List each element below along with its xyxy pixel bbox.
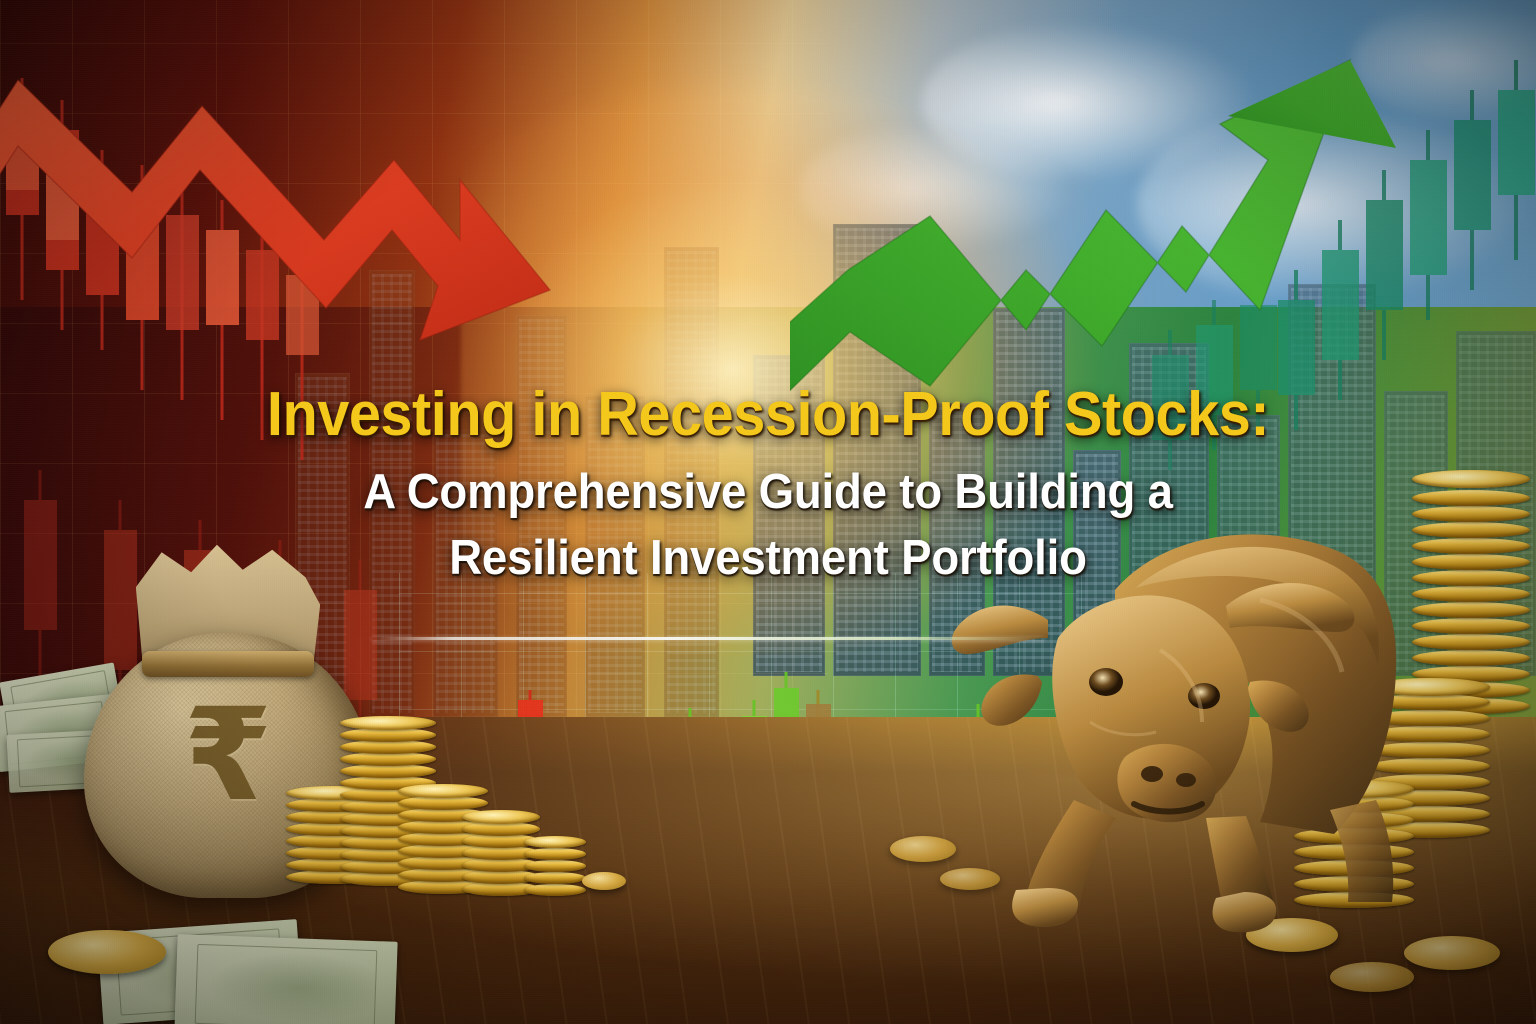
loose-coin — [1330, 962, 1414, 992]
money-bag-rope-tie — [142, 651, 315, 677]
loose-coin — [48, 930, 166, 974]
loose-coin — [1404, 936, 1500, 970]
article-banner: ₹ — [0, 0, 1536, 1024]
title-divider-rule — [372, 637, 1044, 640]
subtitle-line-1: A Comprehensive Guide to Building a — [54, 460, 1482, 526]
loose-coin — [582, 872, 626, 890]
banner-text-block: Investing in Recession-Proof Stocks: A C… — [0, 383, 1536, 592]
page-title: Investing in Recession-Proof Stocks: — [54, 383, 1482, 446]
banknote — [174, 934, 397, 1024]
subtitle-line-2: Resilient Investment Portfolio — [54, 526, 1482, 592]
